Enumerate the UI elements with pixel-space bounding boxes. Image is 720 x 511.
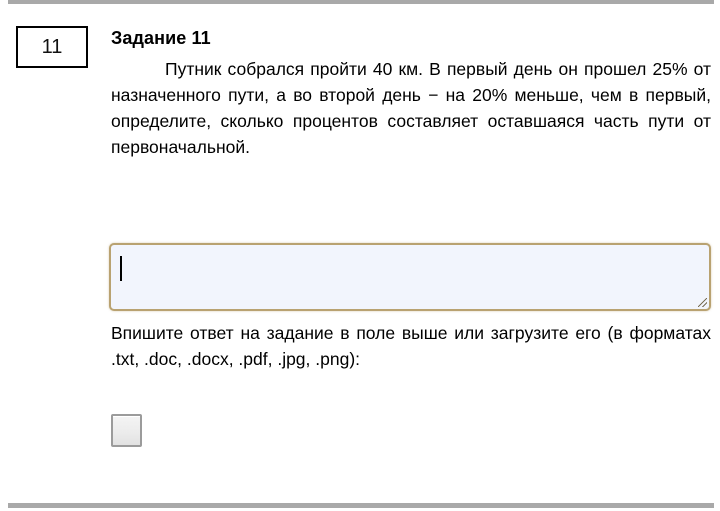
text-caret	[120, 256, 122, 281]
upload-instructions: Впишите ответ на задание в поле выше или…	[111, 320, 711, 372]
upload-instructions-line-2: .png):	[315, 349, 360, 369]
task-heading: Задание 11	[111, 26, 711, 50]
answer-textarea[interactable]	[109, 243, 711, 311]
task-content: Задание 11 Путник собрался пройти 40 км.…	[111, 26, 711, 160]
bottom-divider	[8, 503, 714, 508]
upload-instructions-line-1: Впишите ответ на задание в поле выше или…	[111, 323, 711, 369]
task-number-badge-label: 11	[42, 37, 63, 57]
top-divider	[8, 0, 714, 4]
problem-statement: Путник собрался пройти 40 км. В первый д…	[111, 56, 711, 160]
task-number-badge: 11	[16, 26, 88, 68]
resize-grip-icon[interactable]	[698, 298, 707, 307]
file-upload-button[interactable]	[111, 414, 142, 447]
